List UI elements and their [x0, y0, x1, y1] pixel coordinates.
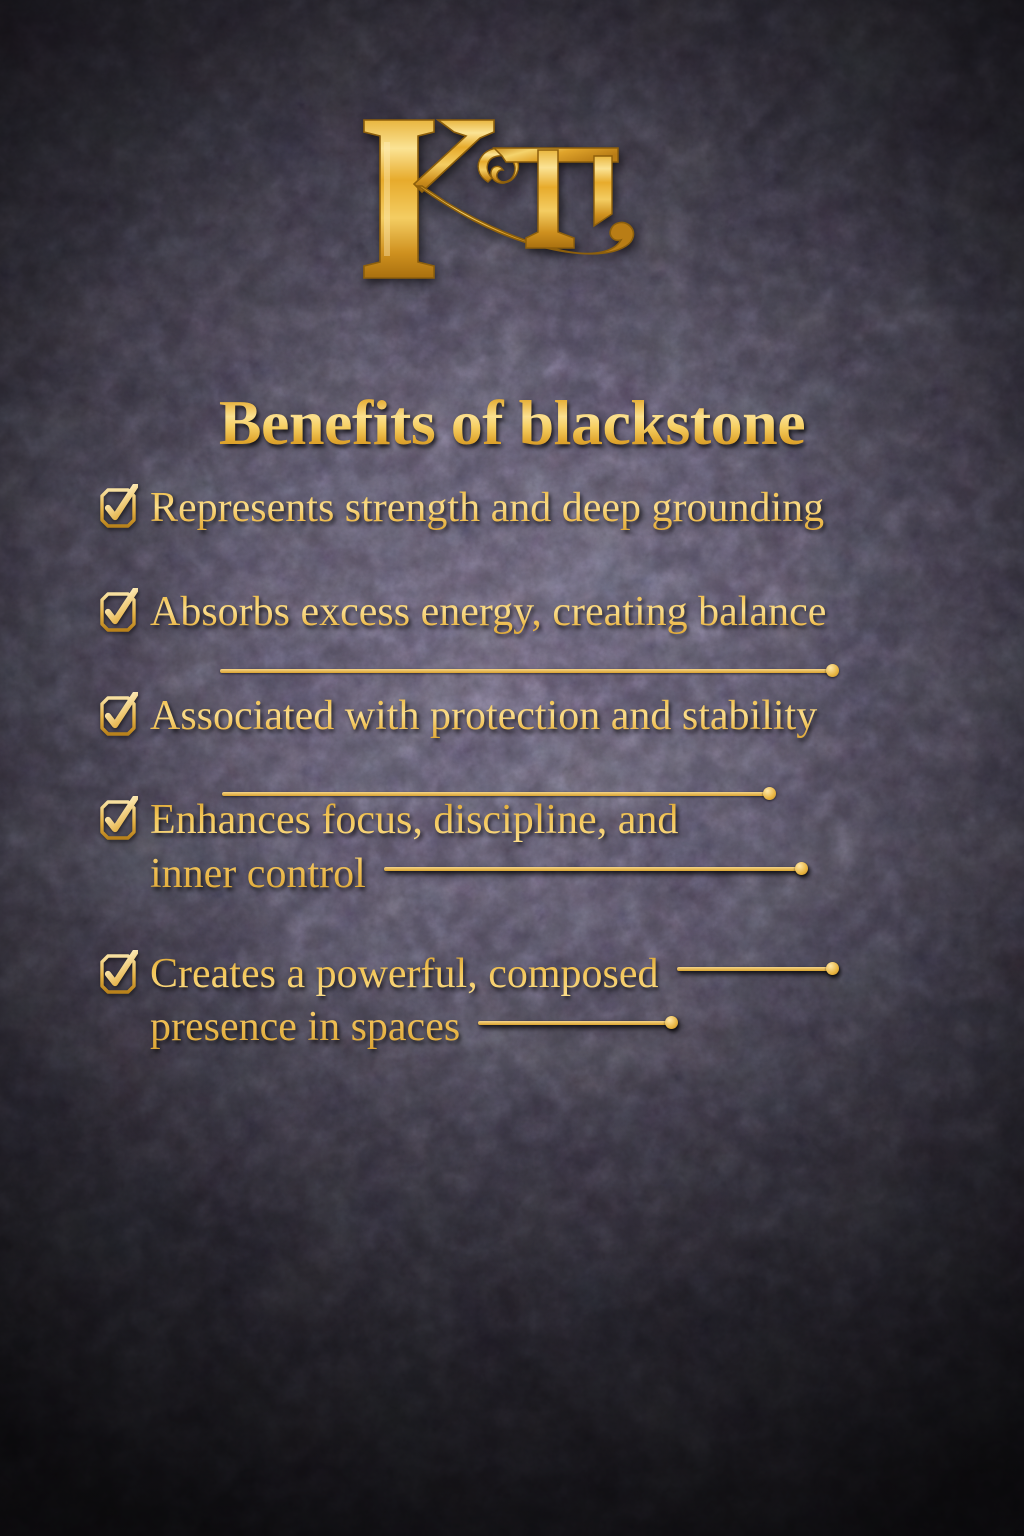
decorative-rule [220, 664, 835, 677]
list-item-line-2: presence in spaces [150, 1004, 460, 1050]
decorative-rule [677, 963, 835, 975]
check-box-icon [92, 796, 138, 848]
list-item: Associated with protection and stability [92, 690, 972, 744]
page-title: Benefits of blackstone [0, 391, 1024, 455]
list-item-text: Represents strength and deep grounding [150, 482, 972, 536]
decorative-rule [222, 787, 772, 800]
list-item: Enhances focus, discipline, and inner co… [92, 794, 972, 902]
decorative-rule [478, 1017, 674, 1029]
decorative-rule [384, 863, 804, 875]
check-box-icon [92, 588, 138, 640]
list-item-line-1: Associated with protection and stability [150, 693, 817, 739]
list-item-line-1: Represents strength and deep grounding [150, 485, 824, 531]
poster-canvas: Benefits of blackstone [0, 0, 1024, 1536]
list-item-line-1: Enhances focus, discipline, and [150, 797, 678, 843]
list-item-line-1: Creates a powerful, composed [150, 951, 659, 997]
list-item-text: Creates a powerful, composed presence in… [150, 948, 972, 1056]
list-item-text: Absorbs excess energy, creating balance [150, 586, 972, 640]
list-item: Absorbs excess energy, creating balance [92, 586, 972, 640]
list-item-text: Enhances focus, discipline, and inner co… [150, 794, 972, 902]
check-box-icon [92, 950, 138, 1002]
check-box-icon [92, 484, 138, 536]
k-monogram-icon [342, 106, 682, 296]
list-item: Represents strength and deep grounding [92, 482, 972, 536]
list-item-line-1: Absorbs excess energy, creating balance [150, 589, 826, 635]
brand-logo [0, 96, 1024, 306]
list-item: Creates a powerful, composed presence in… [92, 948, 972, 1056]
check-box-icon [92, 692, 138, 744]
list-item-line-2: inner control [150, 851, 366, 897]
list-item-text: Associated with protection and stability [150, 690, 972, 744]
